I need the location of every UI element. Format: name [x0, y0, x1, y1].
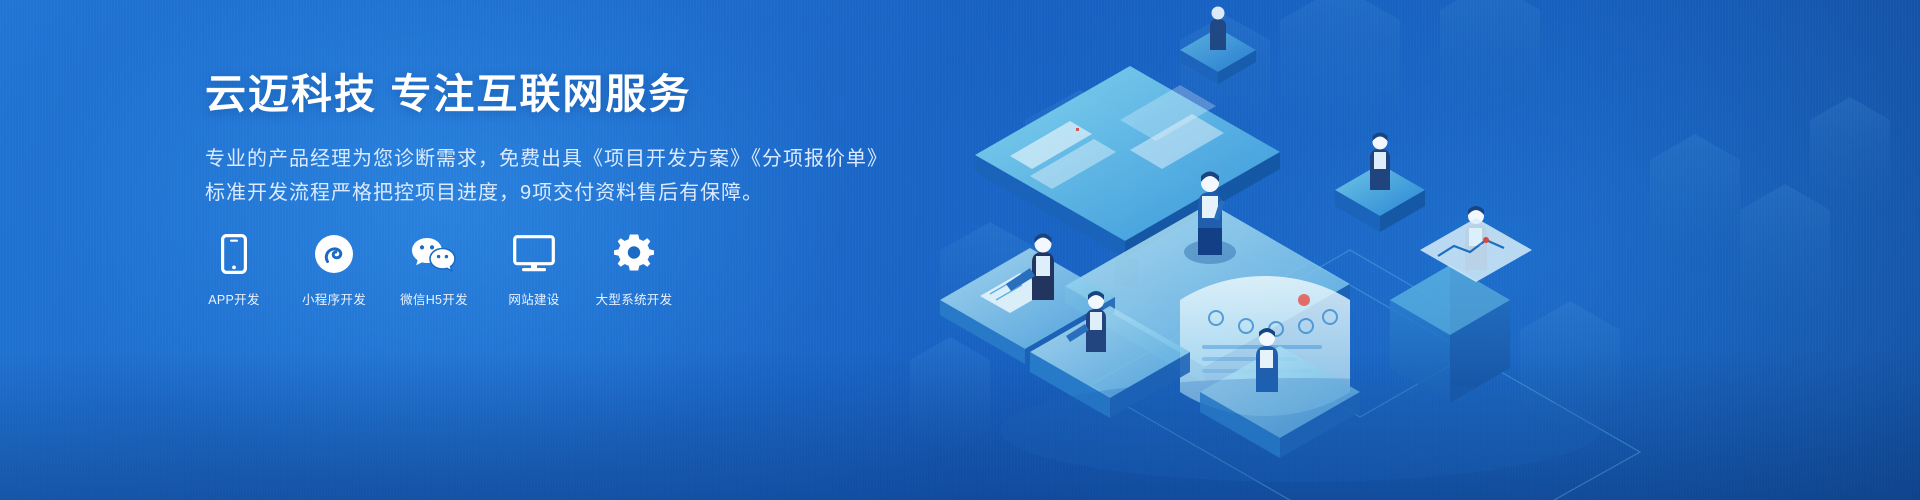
- hero-banner: 云迈科技 专注互联网服务 专业的产品经理为您诊断需求，免费出具《项目开发方案》《…: [0, 0, 1920, 500]
- subtitle-line-1: 专业的产品经理为您诊断需求，免费出具《项目开发方案》《分项报价单》: [205, 142, 905, 176]
- mini-program-icon: [314, 232, 354, 276]
- mobile-phone-icon: [221, 232, 247, 276]
- monitor-icon: [513, 232, 555, 276]
- hero-copy: 云迈科技 专注互联网服务 专业的产品经理为您诊断需求，免费出具《项目开发方案》《…: [205, 72, 905, 210]
- service-item-wechat-h5[interactable]: 微信H5开发: [403, 232, 465, 308]
- page-title: 云迈科技 专注互联网服务: [205, 72, 905, 118]
- illustration-isometric-team-dashboard: [880, 0, 1920, 500]
- service-item-website[interactable]: 网站建设: [503, 232, 565, 308]
- hero-subtitle: 专业的产品经理为您诊断需求，免费出具《项目开发方案》《分项报价单》 标准开发流程…: [205, 142, 905, 210]
- wechat-icon: [411, 232, 457, 276]
- service-list: APP开发 小程序开发 微信: [203, 232, 665, 308]
- service-label: 大型系统开发: [596, 289, 673, 308]
- service-item-mini-program[interactable]: 小程序开发: [303, 232, 365, 308]
- service-label: APP开发: [208, 289, 260, 308]
- service-label: 微信H5开发: [400, 289, 468, 308]
- subtitle-line-2: 标准开发流程严格把控项目进度，9项交付资料售后有保障。: [205, 176, 905, 210]
- service-label: 网站建设: [508, 289, 559, 308]
- service-item-app[interactable]: APP开发: [203, 232, 265, 308]
- service-item-large-system[interactable]: 大型系统开发: [603, 232, 665, 308]
- gear-icon: [614, 232, 654, 276]
- service-label: 小程序开发: [302, 289, 366, 308]
